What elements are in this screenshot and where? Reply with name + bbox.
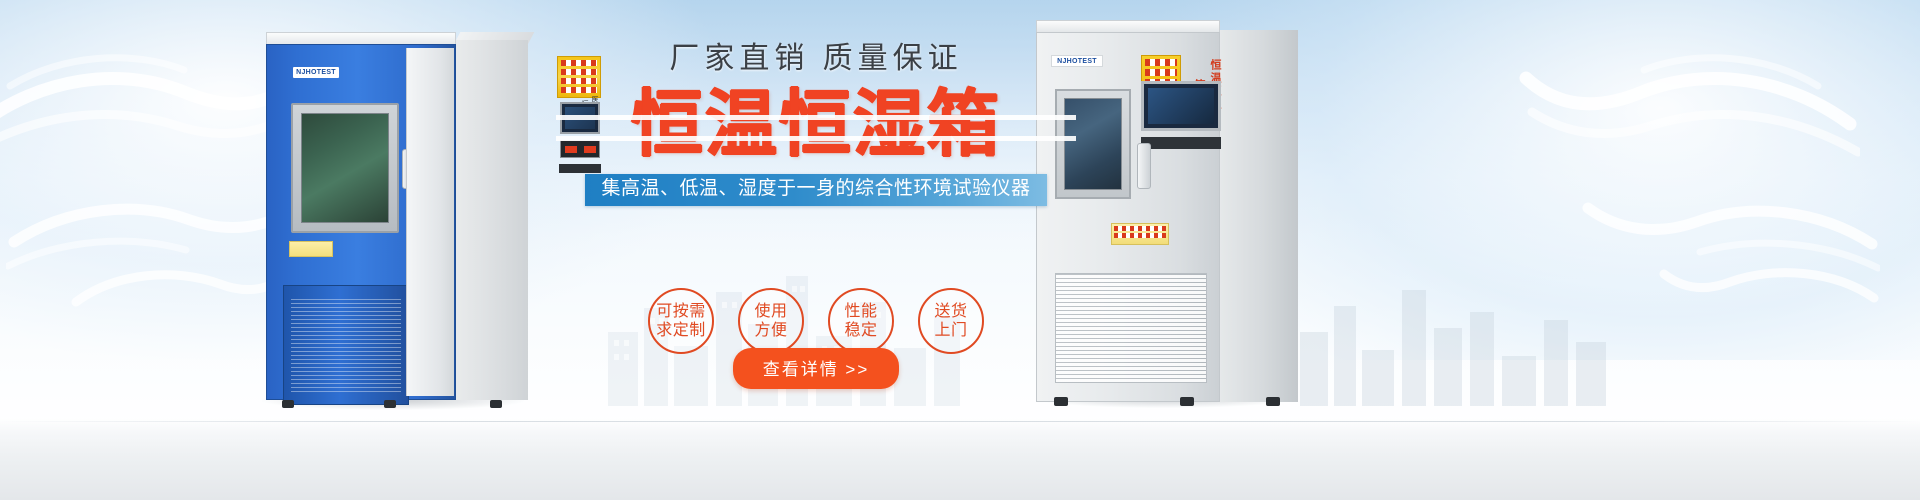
badge-line-1: 送货 bbox=[934, 302, 967, 321]
badge-line-2: 稳定 bbox=[844, 321, 877, 340]
chamber-door-handle bbox=[1137, 143, 1151, 189]
badge-line-2: 求定制 bbox=[656, 321, 706, 340]
cta-row: 查看详情 >> bbox=[556, 348, 1076, 389]
chamber-foot bbox=[282, 400, 294, 408]
feature-badge-delivery[interactable]: 送货 上门 bbox=[918, 288, 984, 354]
chamber-side-panel bbox=[454, 40, 528, 400]
feature-badge-row: 可按需 求定制 使用 方便 性能 稳定 送货 上门 bbox=[556, 288, 1076, 354]
chamber-control-panel: 医用恒温恒湿箱 bbox=[406, 48, 454, 396]
chamber-door-frame bbox=[291, 103, 399, 233]
feature-badge-easy-use[interactable]: 使用 方便 bbox=[738, 288, 804, 354]
chamber-foot bbox=[490, 400, 502, 408]
control-strip bbox=[1141, 137, 1221, 149]
city-skyline-icon bbox=[1290, 246, 1630, 406]
chamber-foot bbox=[1180, 397, 1194, 406]
banner-headline-wrap: 恒温恒湿箱 bbox=[556, 88, 1076, 162]
feature-badge-custom[interactable]: 可按需 求定制 bbox=[648, 288, 714, 354]
cloud-icon bbox=[1640, 248, 1880, 328]
banner-eyebrow: 厂家直销 质量保证 bbox=[556, 44, 1076, 74]
ground-reflection bbox=[0, 418, 1920, 500]
chamber-foot bbox=[1266, 397, 1280, 406]
view-details-button[interactable]: 查看详情 >> bbox=[733, 348, 900, 389]
promo-banner: NJHOTEST 医用恒温恒湿箱 NJHOTEST 恒温恒湿箱 bbox=[0, 0, 1920, 500]
feature-badge-stable[interactable]: 性能 稳定 bbox=[828, 288, 894, 354]
chamber-vent-grille bbox=[1055, 273, 1207, 383]
hmi-touchscreen bbox=[1141, 81, 1221, 131]
badge-line-2: 上门 bbox=[934, 321, 967, 340]
banner-copy-block: 厂家直销 质量保证 恒温恒湿箱 集高温、低温、湿度于一身的综合性环境试验仪器 bbox=[556, 44, 1076, 206]
chamber-viewing-glass bbox=[301, 113, 389, 223]
chamber-foot bbox=[384, 400, 396, 408]
badge-line-1: 性能 bbox=[844, 302, 877, 321]
warning-label bbox=[289, 241, 333, 257]
cloud-icon bbox=[1420, 28, 1860, 178]
badge-line-1: 使用 bbox=[754, 302, 787, 321]
warning-label bbox=[1111, 223, 1169, 245]
chamber-foot bbox=[1054, 397, 1068, 406]
chamber-vent-grille bbox=[291, 299, 401, 395]
badge-line-2: 方便 bbox=[754, 321, 787, 340]
ground-horizon-line bbox=[0, 421, 1920, 422]
badge-line-1: 可按需 bbox=[656, 302, 706, 321]
page-title: 恒温恒湿箱 bbox=[631, 88, 1001, 162]
cloud-icon bbox=[1520, 170, 1880, 290]
brand-plate: NJHOTEST bbox=[293, 67, 339, 78]
banner-subtitle: 集高温、低温、湿度于一身的综合性环境试验仪器 bbox=[585, 174, 1046, 206]
chamber-side-panel bbox=[1218, 30, 1298, 402]
product-image-left: NJHOTEST 医用恒温恒湿箱 bbox=[258, 26, 528, 404]
